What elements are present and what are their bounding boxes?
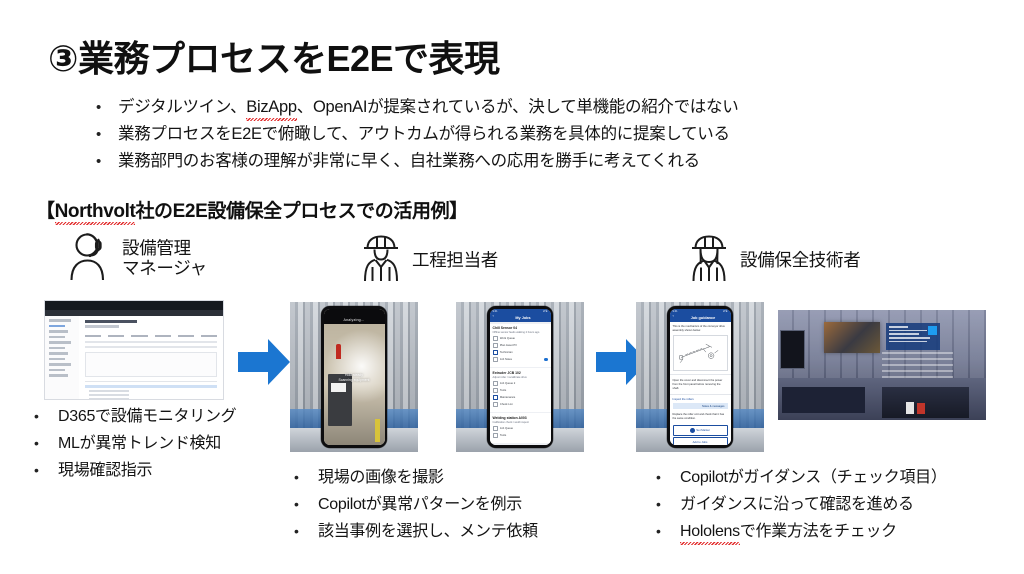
technical-diagram — [673, 335, 728, 371]
camera-app-title: Analyzing... — [324, 309, 385, 324]
workbench-desk — [782, 387, 865, 413]
nav-item — [49, 330, 68, 333]
job-detail-label: Job Notes — [500, 358, 512, 361]
camera-status-overlay: Hold steady Scanning equipment — [330, 373, 379, 383]
phone-screen: Analyzing... Hold steady Scanning equipm… — [324, 309, 385, 445]
phone-device-frame: Analyzing... Hold steady Scanning equipm… — [321, 306, 387, 448]
job-detail-row[interactable]: Job Queue 2 — [493, 381, 548, 386]
d365-selected-row — [85, 385, 217, 388]
d365-chart-area — [85, 352, 217, 377]
checkbox-icon[interactable] — [493, 433, 498, 438]
list-item: • D365で設備モニタリング — [34, 405, 236, 428]
panel-text-line — [889, 337, 930, 339]
checkbox-checked-icon[interactable] — [493, 350, 498, 355]
list-item: • ガイダンスに沿って確認を進める — [656, 493, 947, 516]
checkbox-icon[interactable] — [493, 343, 498, 348]
my-jobs-title: My Jobs — [499, 316, 548, 320]
job-detail-label: Tools — [500, 389, 506, 392]
persona-label-line1: 設備保全技術者 — [740, 250, 860, 270]
column-3-bullet-text-3: Hololensで作業方法をチェック — [680, 521, 897, 543]
column-2-bullet-text-3: 該当事例を選択し、メンテ依頼 — [318, 521, 538, 543]
list-item: • 該当事例を選択し、メンテ依頼 — [294, 520, 538, 543]
persona-label-2: 工程担当者 — [412, 251, 498, 271]
guidance-intro: This is the mechanism of the conveyor dr… — [670, 322, 731, 334]
job-detail-row[interactable]: Job Queue — [493, 426, 548, 431]
persona-label-line1: 設備管理 — [122, 238, 191, 258]
bullet-marker: • — [96, 96, 118, 119]
radio-icon — [690, 428, 695, 433]
column-1-bullet-text-3: 現場確認指示 — [58, 460, 152, 482]
job-title: Welding station A003 — [493, 416, 548, 420]
column-2-bullet-list: • 現場の画像を撮影 • Copilotが異常パターンを例示 • 該当事例を選択… — [294, 466, 538, 547]
bullet-marker: • — [294, 466, 318, 488]
column-header — [131, 335, 147, 337]
hardhat-worker-icon — [358, 234, 404, 287]
slide-canvas: ③業務プロセスをE2Eで表現 • デジタルツイン、BizApp、OpenAIが提… — [0, 0, 1024, 574]
nav-item — [49, 358, 65, 361]
table-row — [89, 398, 129, 400]
job-subtitle: Calibration check / weld inspect — [493, 421, 548, 424]
panel-text-line — [889, 333, 919, 335]
persona-equipment-manager: 設備管理 マネージャ — [66, 231, 207, 286]
bullet-marker: • — [294, 493, 318, 515]
job-subtitle: Adjust roller / recalibrate drive — [493, 376, 548, 379]
jobs-list[interactable]: Chill Sensor 04 Offline sensor feeds wal… — [490, 322, 551, 445]
red-container — [917, 403, 925, 414]
column-header — [155, 335, 171, 337]
list-item: • 現場確認指示 — [34, 459, 236, 482]
top-bullet-list: • デジタルツイン、BizApp、OpenAIが提案されているが、決して単機能の… — [96, 96, 946, 177]
column-header — [201, 335, 217, 337]
wall-monitor — [780, 330, 805, 369]
job-detail-row[interactable]: Work Queue — [493, 336, 548, 341]
checkbox-icon[interactable] — [493, 381, 498, 386]
job-title: Extruder JCB 102 — [493, 371, 548, 375]
list-item: • Copilotが異常パターンを例示 — [294, 493, 538, 516]
job-detail-row[interactable]: Tools — [493, 388, 548, 393]
phone-screen: 9:41 LTE ‹ My Jobs Chill Sensor 04 Offli… — [490, 309, 551, 445]
guidance-content: This is the mechanism of the conveyor dr… — [670, 322, 731, 445]
d365-heading — [85, 320, 137, 323]
column-3-bullet-text-2: ガイダンスに沿って確認を進める — [680, 494, 914, 516]
spellcheck-term-northvolt: Northvolt — [55, 201, 136, 223]
persona-maintenance-technician: 設備保全技術者 — [686, 234, 860, 287]
checkbox-icon[interactable] — [493, 357, 498, 362]
job-detail-label: Plan Asset PV — [500, 344, 517, 347]
persona-label-line1: 工程担当者 — [412, 250, 498, 270]
job-detail-label: Maintenance — [500, 396, 515, 399]
bullet-marker: • — [34, 432, 58, 454]
list-item[interactable]: Welding station A003 Calibration check /… — [490, 413, 551, 442]
job-detail-row[interactable]: Job Notes — [493, 357, 548, 362]
nav-item — [49, 352, 68, 355]
hololens-scene — [778, 310, 986, 420]
d365-column-headers — [85, 335, 217, 337]
list-item: • 現場の画像を撮影 — [294, 466, 538, 489]
d365-title-bar — [45, 301, 223, 310]
bullet-marker: • — [34, 459, 58, 481]
top-bullet-text-3: 業務部門のお客様の理解が非常に早く、自社業務への応用を勝手に考えてくれる — [118, 150, 700, 173]
phone-device-frame: 9:41 LTE ‹ Job guidance This is the mech… — [667, 306, 733, 448]
my-jobs-app-header: 9:41 LTE ‹ My Jobs — [490, 309, 551, 322]
hololens-mixed-reality-screenshot — [778, 310, 986, 420]
bullet-marker: • — [656, 493, 680, 515]
guidance-chip[interactable]: Notes & messages — [673, 403, 728, 409]
list-item: • Copilotがガイダンス（チェック項目） — [656, 466, 947, 489]
job-subtitle: Offline sensor feeds walking 2 hours ago — [493, 331, 548, 334]
job-detail-label: Work Queue — [500, 337, 515, 340]
bullet-marker: • — [96, 123, 118, 146]
spellcheck-term-bizapp: BizApp — [246, 96, 296, 119]
phone-camera-analyzing-screenshot: Analyzing... Hold steady Scanning equipm… — [290, 302, 418, 452]
machine-display — [331, 383, 345, 392]
bullet-marker: • — [294, 520, 318, 542]
bullet-marker: • — [96, 150, 118, 173]
panel-text-line — [889, 341, 927, 343]
bullet-text-pre: デジタルツイン、 — [118, 98, 246, 116]
d365-dashboard-screenshot — [44, 300, 224, 400]
holographic-info-panel — [886, 323, 940, 349]
bullet-marker: • — [656, 466, 680, 488]
bullet-text-post: 、OpenAIが提案されているが、決して単機能の紹介ではない — [297, 98, 739, 116]
divider — [85, 346, 217, 348]
white-container — [906, 402, 914, 414]
persona-label-1: 設備管理 マネージャ — [122, 239, 207, 278]
job-detail-row[interactable]: Plan Asset PV — [493, 343, 548, 348]
nav-item — [49, 347, 65, 350]
female-technician-icon — [686, 234, 732, 287]
checkbox-icon[interactable] — [493, 426, 498, 431]
phone-device-frame: 9:41 LTE ‹ My Jobs Chill Sensor 04 Offli… — [487, 306, 553, 448]
d365-side-nav — [45, 316, 80, 399]
d365-subheading — [85, 325, 119, 327]
yellow-marker — [375, 419, 380, 442]
bullet-marker: • — [656, 520, 680, 542]
job-detail-row[interactable]: Maintenance — [493, 395, 548, 400]
job-detail-label: Technician — [500, 351, 513, 354]
job-detail-label: Job Queue 2 — [500, 382, 515, 385]
top-bullet-item-1: • デジタルツイン、BizApp、OpenAIが提案されているが、決して単機能の… — [96, 96, 946, 119]
parts-shelf — [882, 350, 953, 379]
column-1-bullet-list: • D365で設備モニタリング • MLが異常トレンド検知 • 現場確認指示 — [34, 405, 236, 486]
panel-accent-square — [928, 326, 937, 335]
job-detail-row[interactable]: Tools — [493, 433, 548, 438]
divider — [85, 341, 217, 343]
nav-item — [49, 369, 65, 372]
persona-label-line2: マネージャ — [122, 259, 207, 279]
guidance-followup-text: Replace the roller unit and check that i… — [670, 411, 731, 423]
section-header-rest: 社のE2E設備保全プロセスでの活用例】 — [135, 201, 467, 222]
job-detail-label: Tools — [500, 434, 506, 437]
column-header — [178, 335, 194, 337]
column-3-bullet-text-1: Copilotがガイダンス（チェック項目） — [680, 467, 947, 489]
red-equipment-part — [336, 344, 341, 359]
status-network: LTE — [543, 310, 548, 313]
status-badge — [544, 358, 548, 362]
bullet-marker: • — [34, 405, 58, 427]
checkbox-icon[interactable] — [493, 336, 498, 341]
checkbox-icon[interactable] — [493, 388, 498, 393]
guidance-app-header: 9:41 LTE ‹ Job guidance — [670, 309, 731, 322]
table-row — [89, 390, 129, 392]
status-network: LTE — [723, 310, 728, 313]
phone-my-jobs-screenshot: 9:41 LTE ‹ My Jobs Chill Sensor 04 Offli… — [456, 302, 584, 452]
section-header-open-bracket: 【 — [36, 201, 55, 222]
table-row — [89, 394, 129, 396]
headset-operator-icon — [66, 231, 114, 286]
d365-table-rows — [79, 390, 223, 399]
column-2-bullet-text-1: 現場の画像を撮影 — [318, 467, 444, 489]
nav-item — [49, 341, 71, 344]
persona-label-3: 設備保全技術者 — [740, 251, 860, 271]
add-to-jobs-label: Add to Jobs — [693, 440, 708, 444]
nav-item — [49, 336, 65, 339]
guidance-step-text: Open the cover and disconnect the power … — [670, 376, 731, 392]
job-detail-label: Check List — [500, 403, 513, 406]
column-2-bullet-text-2: Copilotが異常パターンを例示 — [318, 494, 522, 516]
column-3-bullet-list: • Copilotがガイダンス（チェック項目） • ガイダンスに沿って確認を進め… — [656, 466, 947, 547]
checkbox-icon[interactable] — [493, 402, 498, 407]
job-detail-row[interactable]: Check List — [493, 402, 548, 407]
job-detail-row[interactable]: Technician — [493, 350, 548, 355]
divider — [670, 374, 731, 375]
holographic-video-panel — [824, 322, 880, 353]
camera-status-line2: Scanning equipment — [330, 378, 379, 383]
nav-item-selected — [49, 325, 65, 328]
top-bullet-text-2: 業務プロセスをE2Eで俯瞰して、アウトカムが得られる業務を具体的に提案している — [118, 123, 730, 146]
nav-item — [49, 374, 68, 377]
nav-item — [49, 319, 71, 322]
d365-content-pane — [79, 316, 223, 399]
job-title: Chill Sensor 04 — [493, 326, 548, 330]
section-header: 【Northvolt社のE2E設備保全プロセスでの活用例】 — [36, 196, 468, 223]
divider — [670, 394, 731, 395]
top-bullet-item-3: • 業務部門のお客様の理解が非常に早く、自社業務への応用を勝手に考えてくれる — [96, 150, 946, 173]
status-bar: 9:41 LTE — [673, 310, 728, 313]
column-header — [85, 335, 101, 337]
persona-process-engineer: 工程担当者 — [358, 234, 498, 287]
list-item[interactable]: Extruder JCB 102 Adjust roller / recalib… — [490, 368, 551, 411]
phone-screen: 9:41 LTE ‹ Job guidance This is the mech… — [670, 309, 731, 445]
top-bullet-text-1: デジタルツイン、BizApp、OpenAIが提案されているが、決して単機能の紹介… — [118, 96, 738, 119]
status-time: 9:41 — [493, 310, 498, 313]
flow-arrow-1 — [236, 336, 292, 388]
bullet-text-post: で作業方法をチェック — [740, 523, 897, 540]
list-item: • MLが異常トレンド検知 — [34, 432, 236, 455]
guidance-title: Job guidance — [679, 316, 728, 320]
phone-guidance-screenshot: 9:41 LTE ‹ Job guidance This is the mech… — [636, 302, 764, 452]
guidance-link[interactable]: Inspect the rollers — [670, 397, 731, 402]
column-header — [108, 335, 124, 337]
set-marker-button[interactable]: Set Marker — [673, 425, 728, 436]
divider — [85, 381, 217, 383]
job-detail-label: Job Queue — [500, 427, 513, 430]
column-1-bullet-text-2: MLが異常トレンド検知 — [58, 433, 221, 455]
list-item: • Hololensで作業方法をチェック — [656, 520, 947, 543]
panel-text-line — [889, 330, 927, 332]
panel-text-line — [889, 326, 908, 328]
status-time: 9:41 — [673, 310, 678, 313]
top-bullet-item-2: • 業務プロセスをE2Eで俯瞰して、アウトカムが得られる業務を具体的に提案してい… — [96, 123, 946, 146]
status-bar: 9:41 LTE — [493, 310, 548, 313]
nav-item — [49, 363, 71, 366]
list-item[interactable]: Chill Sensor 04 Offline sensor feeds wal… — [490, 324, 551, 367]
spellcheck-term-hololens: Hololens — [680, 521, 740, 543]
set-marker-label: Set Marker — [696, 428, 710, 432]
checkbox-checked-icon[interactable] — [493, 395, 498, 400]
add-to-jobs-button[interactable]: Add to Jobs — [673, 437, 728, 445]
maintenance-equipment — [882, 387, 969, 418]
page-title: ③業務プロセスをE2Eで表現 — [48, 30, 500, 82]
column-1-bullet-text-1: D365で設備モニタリング — [58, 406, 236, 428]
